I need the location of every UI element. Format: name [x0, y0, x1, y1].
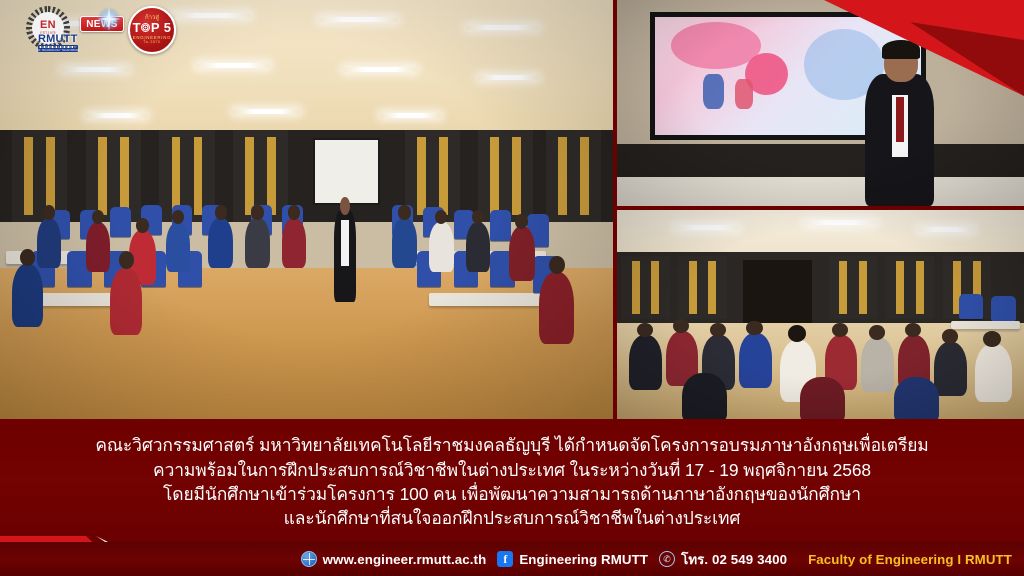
student-head [942, 329, 958, 344]
attendee [245, 218, 270, 268]
top5-letter-t: T [133, 21, 141, 35]
phone-label: โทร. 02 549 3400 [681, 549, 787, 570]
attendee-head [472, 210, 484, 224]
globe-icon [301, 551, 317, 567]
attendee-head [515, 214, 528, 229]
attendee-head [20, 249, 35, 266]
attendee [282, 218, 307, 268]
footer-phone[interactable]: ✆ โทร. 02 549 3400 [659, 549, 787, 570]
wall-panel [478, 130, 533, 222]
attendee-head [398, 205, 410, 219]
desk [951, 321, 1020, 329]
student [800, 377, 845, 419]
caption-block: คณะวิศวกรรมศาสตร์ มหาวิทยาลัยเทคโนโลยีรา… [0, 419, 1024, 542]
top5-main-text: T P 5 [133, 21, 172, 35]
target-icon [141, 23, 150, 32]
attendee-head [251, 205, 263, 219]
screen-figure [735, 79, 754, 110]
footer-facebook[interactable]: f Engineering RMUTT [497, 551, 648, 567]
photo-collage [0, 0, 1024, 419]
ceiling-lamp [804, 220, 877, 225]
facebook-icon: f [497, 551, 513, 567]
logo-cluster: EN EST.1975 RMUTT RAJAMANGALA UNIVERSITY… [24, 6, 176, 54]
ceiling-lamp [478, 75, 539, 80]
ceiling-lamp [466, 25, 540, 30]
student [861, 337, 894, 391]
photo-lecture-hall-audience [0, 0, 613, 419]
top5-year-label: ใน 2570 [144, 41, 161, 45]
speaker-tie [896, 97, 903, 142]
attendee [37, 218, 62, 268]
projector-screen [313, 138, 380, 205]
attendee [429, 222, 454, 272]
ceiling-lamp [918, 227, 975, 232]
chair [991, 296, 1015, 321]
attendee [466, 222, 491, 272]
attendee-head [136, 218, 149, 233]
wall-panel [621, 256, 670, 319]
floor [617, 177, 1024, 206]
news-badge: NEWS [80, 7, 124, 53]
presenter-shirt [341, 220, 349, 266]
news-label: NEWS [86, 19, 118, 30]
top5-letters-p5: P 5 [151, 21, 171, 35]
student [934, 342, 967, 396]
footer-website[interactable]: www.engineer.rmutt.ac.th [301, 551, 487, 567]
faculty-label: Faculty of Engineering I RMUTT [808, 552, 1012, 567]
footer-bar: www.engineer.rmutt.ac.th f Engineering R… [0, 542, 1024, 576]
attendee [12, 264, 43, 327]
photo-speaker-at-podium [617, 0, 1024, 206]
en-monogram: EN [40, 20, 56, 31]
attendee [166, 222, 191, 272]
wall-panel [678, 256, 727, 319]
rmutt-wordmark: RMUTT [38, 33, 78, 45]
ceiling-lamp [674, 225, 739, 230]
ceiling-lamp [196, 63, 270, 68]
doorway [743, 260, 812, 323]
student-head [788, 325, 806, 342]
stage-floor [0, 268, 613, 419]
student-head [983, 331, 1001, 347]
wall-panel [829, 256, 878, 319]
attendee-head [92, 210, 104, 224]
chair [490, 210, 511, 241]
attendee-head [43, 205, 55, 219]
attendee [539, 272, 573, 343]
phone-icon: ✆ [659, 551, 675, 567]
wall-dado [617, 144, 1024, 177]
attendee [509, 226, 535, 280]
caption-line-4: และนักศึกษาที่สนใจออกฝึกประสบการณ์วิชาชี… [284, 507, 741, 530]
screen-figure [703, 74, 724, 109]
news-pill: NEWS [80, 16, 124, 32]
ceiling-lamp [233, 109, 300, 114]
student [682, 373, 727, 419]
ceiling-lamp [172, 13, 252, 18]
rmutt-subtitle: RAJAMANGALA UNIVERSITY OF TECHNOLOGY THA… [37, 47, 79, 52]
chair [959, 294, 983, 319]
student-head [869, 325, 885, 340]
attendee-head [549, 256, 565, 274]
student-head [746, 321, 762, 336]
attendee [110, 268, 142, 335]
chair [110, 207, 131, 236]
caption-line-2: ความพร้อมในการฝึกประสบการณ์วิชาชีพในต่าง… [153, 459, 871, 482]
ceiling-lamp [86, 113, 147, 118]
student [739, 333, 772, 387]
caption-line-3: โดยมีนักศึกษาเข้าร่วมโครงการ 100 คน เพื่… [163, 483, 861, 506]
top5-engineering-badge: ก้าวสู่ T P 5 ENGINEERING ใน 2570 [128, 6, 176, 54]
wall-panel [886, 256, 935, 319]
poster-root: EN EST.1975 RMUTT RAJAMANGALA UNIVERSITY… [0, 0, 1024, 576]
attendee [208, 218, 233, 268]
student [894, 377, 939, 419]
ceiling-lamp [61, 67, 128, 72]
attendee [392, 218, 417, 268]
attendee-head [288, 205, 300, 219]
attendee [86, 222, 111, 272]
attendee-head [172, 210, 184, 224]
speaker-hair [882, 40, 920, 59]
photo-students-seated-on-floor [617, 210, 1024, 419]
wall-panel [546, 130, 601, 222]
en-rmutt-logo: EN EST.1975 RMUTT RAJAMANGALA UNIVERSITY… [24, 7, 76, 53]
attendee-head [215, 205, 227, 219]
student [629, 335, 662, 389]
ceiling-lamp [380, 113, 441, 118]
ceiling-lamp [319, 17, 399, 22]
facebook-label: Engineering RMUTT [519, 552, 648, 567]
website-label: www.engineer.rmutt.ac.th [323, 552, 487, 567]
footer-faculty: Faculty of Engineering I RMUTT [808, 552, 1012, 567]
wall-panel [12, 130, 67, 222]
caption-line-1: คณะวิศวกรรมศาสตร์ มหาวิทยาลัยเทคโนโลยีรา… [95, 434, 928, 457]
ceiling-lamp [343, 67, 417, 72]
student [975, 344, 1012, 403]
